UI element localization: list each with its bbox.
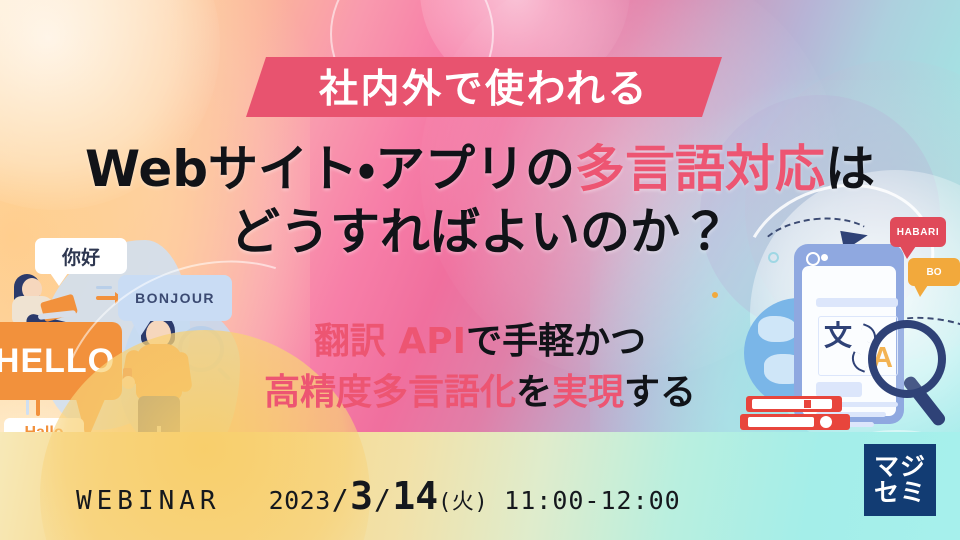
headline-line-1: Webサイト・アプリの多言語対応は [0,138,960,201]
headline-badge: 社内外で使われる [246,57,722,117]
brand-logo-line-1: マジ [874,454,926,481]
page-subtitle: 翻訳 APIで手軽かつ 高精度多言語化を実現する [0,316,960,418]
page-title: Webサイト・アプリの多言語対応は どうすればよいのか？ [0,138,960,264]
event-schedule: WEBINAR 2023/3/14(火) 11:00-12:00 [76,474,681,518]
subtitle-segment: する [624,372,696,413]
screen-header-bar [816,298,898,307]
arrow-small-icon [96,286,112,289]
date-separator-1: / [331,483,350,516]
event-date-weekday: (火) [438,484,488,516]
dot-decor-orange-secondary [712,292,718,298]
event-date-day: 14 [392,474,438,518]
event-date: 2023/3/14(火) 11:00-12:00 [269,474,681,518]
date-separator-2: / [373,483,392,516]
headline-segment: は [825,140,875,198]
speech-bubble-nihao-tail [50,273,68,286]
subtitle-segment: を [516,372,552,413]
event-time-range: 11:00-12:00 [504,486,681,515]
subtitle-segment-accent: 高精度多言語化 [264,372,516,413]
headline-line-2: どうすればよいのか？ [0,201,960,264]
brand-logo: マジ セミ [864,444,936,516]
speech-bubble-bo-tail [914,285,928,297]
subtitle-line-2: 高精度多言語化を実現する [0,367,960,418]
headline-segment: Webサイト・アプリの [85,140,575,198]
headline-segment: どうすればよいのか？ [230,203,730,261]
subtitle-segment: で手軽かつ [466,321,646,362]
headline-segment-accent: 多言語対応 [575,140,825,198]
subtitle-segment-accent: 翻訳 API [314,321,466,362]
event-date-month: 3 [350,474,373,518]
event-type-label: WEBINAR [76,486,221,516]
headline-badge-label: 社内外で使われる [246,57,722,117]
brand-logo-line-2: セミ [874,480,926,507]
event-date-year: 2023 [269,486,331,515]
arrow-right-icon [96,296,118,300]
subtitle-line-1: 翻訳 APIで手軽かつ [0,316,960,367]
subtitle-segment-accent: 実現 [552,372,624,413]
webinar-banner: 你好 BONJOUR HELLO Hallo 文 [0,0,960,540]
